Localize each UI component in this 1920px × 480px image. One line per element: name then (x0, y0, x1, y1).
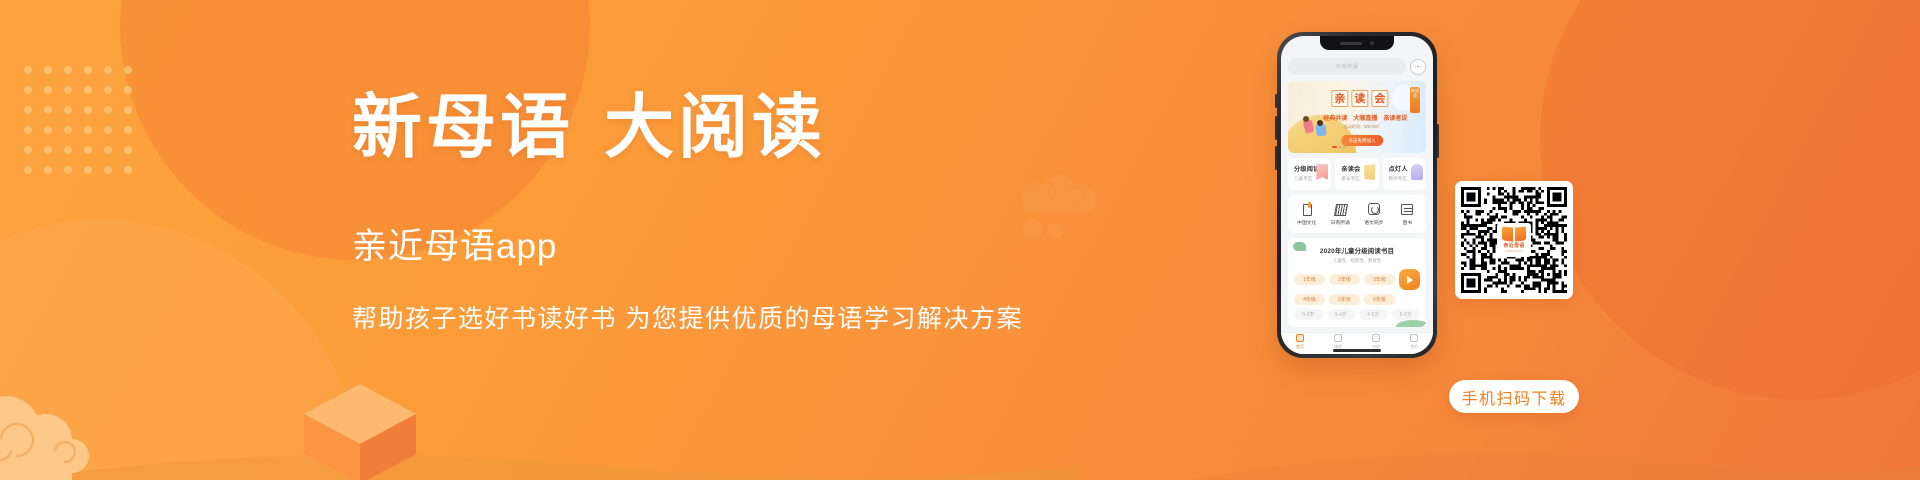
decor-cube (300, 380, 420, 480)
page-title: 新母语大阅读 (352, 92, 1032, 166)
hero-title-char-1: 亲 (1331, 90, 1348, 107)
quick-icon-row: 中国文化 日有所诵 语文同步 图书 (1288, 195, 1426, 233)
hero-card-date: 活动时间：9/6-9/27 (1343, 124, 1379, 130)
grade-chip[interactable]: 5年级 (1329, 294, 1360, 305)
download-button[interactable]: 手机扫码下载 (1449, 380, 1579, 413)
carousel-dots[interactable] (1332, 146, 1345, 148)
hero-title-char-3: 会 (1371, 90, 1388, 107)
library-icon (1372, 334, 1380, 342)
culture-icon (1300, 202, 1314, 216)
age-chip[interactable]: 4-5岁 (1359, 309, 1388, 320)
kid-head-a (1303, 116, 1309, 122)
headline-part-1: 新母语 (352, 90, 574, 167)
hero-ribbon: 亲读会 (1410, 87, 1420, 113)
age-chip-row: 0-3岁 3-4岁 4-5岁 5-6岁 (1294, 309, 1420, 320)
decor-hill-left (0, 430, 1080, 480)
quick-label: 中国文化 (1297, 219, 1316, 226)
decor-dot-grid (22, 64, 142, 184)
hero-copy: 新母语大阅读 亲近母语app 帮助孩子选好书读好书 为您提供优质的母语学习解决方… (352, 92, 1032, 335)
tab-label: 首页 (1296, 344, 1304, 350)
qr-code: 亲近母语 QINJIN MUYU (1461, 187, 1567, 293)
quick-label: 图书 (1402, 219, 1412, 226)
home-indicator (1333, 349, 1381, 352)
tab-course[interactable]: 课程 (1334, 334, 1342, 350)
kid-head-b (1317, 120, 1323, 126)
book-logo-icon (1502, 227, 1526, 241)
logo-name: 亲近母语 (1503, 242, 1524, 249)
app-hero-banner[interactable]: ˯ ˯ ˯ 亲 读 会 亲读会 经典共读 大咖直播 亲读者说 (1288, 81, 1426, 153)
hero-card-subtitle: 经典共读 大咖直播 亲读者说 (1323, 113, 1407, 122)
camera-icon (1370, 41, 1374, 45)
book-icon (1400, 202, 1414, 216)
zone-card-parent-club[interactable]: 亲读会 家长专区 (1335, 158, 1378, 190)
phone-volume-down (1275, 146, 1277, 170)
birds-icon: ˯ ˯ ˯ (1298, 89, 1314, 94)
play-video-button[interactable] (1399, 269, 1420, 290)
age-chip[interactable]: 5-6岁 (1392, 309, 1421, 320)
speaker-icon (1340, 42, 1362, 45)
booklist-card: 2020年儿童分级阅读书目 儿童性、经典性、教育性 1年级 2年级 3年级 4年… (1288, 238, 1426, 327)
zone-card-graded-reading[interactable]: 分级阅读 儿童专区 (1288, 158, 1331, 190)
decor-hill-right (1180, 430, 1920, 480)
phone-power-button (1437, 124, 1439, 158)
search-input[interactable]: 日有所诵 (1288, 58, 1406, 75)
quick-item-sync[interactable]: 语文同步 (1359, 202, 1389, 226)
play-icon (1407, 276, 1413, 284)
app-name: 亲近母语app (352, 218, 1032, 269)
message-icon[interactable] (1410, 59, 1426, 75)
page-art-icon (1364, 164, 1376, 180)
search-placeholder: 日有所诵 (1336, 63, 1358, 70)
recite-icon (1333, 202, 1347, 216)
hero-sub-2: 大咖直播 (1353, 113, 1377, 122)
grade-chip[interactable]: 3年级 (1364, 274, 1395, 285)
age-chip[interactable]: 3-4岁 (1327, 309, 1356, 320)
logo-name-en: QINJIN MUYU (1505, 250, 1523, 253)
zone-card-teacher[interactable]: 点灯人 教师专区 (1383, 158, 1426, 190)
grade-chip[interactable]: 6年级 (1364, 294, 1395, 305)
grade-chip[interactable]: 4年级 (1294, 294, 1325, 305)
decor-circle-right (1540, 0, 1920, 400)
phone-mockup: 日有所诵 ˯ ˯ ˯ 亲 读 (1277, 32, 1437, 358)
grade-chip[interactable]: 1年级 (1294, 274, 1325, 285)
hero-card-title: 亲 读 会 (1331, 90, 1388, 107)
qr-code-card: 亲近母语 QINJIN MUYU (1455, 181, 1573, 299)
quick-item-culture[interactable]: 中国文化 (1292, 202, 1322, 226)
booklist-title: 2020年儿童分级阅读书目 (1294, 246, 1420, 255)
promo-banner: 新母语大阅读 亲近母语app 帮助孩子选好书读好书 为您提供优质的母语学习解决方… (0, 0, 1920, 480)
grade-chip-row-1: 1年级 2年级 3年级 (1294, 269, 1420, 290)
headline-part-2: 大阅读 (604, 90, 826, 167)
grade-chip[interactable]: 2年级 (1329, 274, 1360, 285)
tab-library[interactable]: 书库 (1372, 334, 1380, 350)
tab-home[interactable]: 首页 (1296, 334, 1304, 350)
leaf-decor-icon-2 (1396, 320, 1426, 327)
app-screen: 日有所诵 ˯ ˯ ˯ 亲 读 (1281, 36, 1433, 354)
phone-volume-up (1275, 116, 1277, 140)
lamp-art-icon (1411, 164, 1423, 180)
zone-card-row: 分级阅读 儿童专区 亲读会 家长专区 点灯人 教师专区 (1288, 158, 1426, 190)
hero-title-char-2: 读 (1351, 90, 1368, 107)
hero-sub-1: 经典共读 (1323, 113, 1347, 122)
quick-item-book[interactable]: 图书 (1392, 202, 1422, 226)
tab-mine[interactable]: 我的 (1410, 334, 1418, 350)
leaf-decor-icon (1293, 242, 1306, 251)
phone-notch (1320, 36, 1394, 50)
quick-label: 语文同步 (1364, 219, 1383, 226)
app-search-bar: 日有所诵 (1288, 58, 1426, 75)
grade-chip-row-2: 4年级 5年级 6年级 (1294, 294, 1420, 305)
age-chip[interactable]: 0-3岁 (1294, 309, 1323, 320)
hero-description: 帮助孩子选好书读好书 为您提供优质的母语学习解决方案 (352, 299, 1032, 335)
phone-screen: 日有所诵 ˯ ˯ ˯ 亲 读 (1281, 36, 1433, 354)
course-icon (1334, 334, 1342, 342)
quick-label: 日有所诵 (1331, 219, 1350, 226)
hero-join-button[interactable]: 点击免费加入 (1341, 135, 1383, 146)
sync-icon (1367, 202, 1381, 216)
qr-center-logo: 亲近母语 QINJIN MUYU (1497, 223, 1531, 257)
home-icon (1296, 334, 1304, 342)
phone-mute-switch (1275, 94, 1277, 108)
user-icon (1410, 334, 1418, 342)
decor-cloud-bottom-left (0, 378, 142, 480)
hero-sub-3: 亲读者说 (1383, 113, 1407, 122)
quick-item-recite[interactable]: 日有所诵 (1325, 202, 1355, 226)
tab-label: 我的 (1410, 344, 1418, 350)
decor-circle-bottom-left (0, 220, 360, 480)
booklist-subtitle: 儿童性、经典性、教育性 (1294, 258, 1420, 264)
